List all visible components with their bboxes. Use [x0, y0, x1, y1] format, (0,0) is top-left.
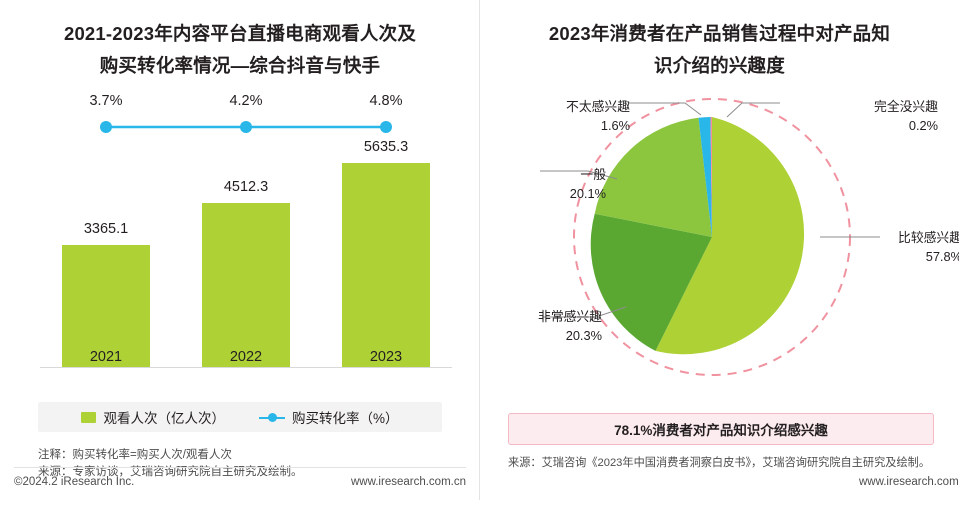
legend-line-icon: [259, 412, 285, 423]
callout-value-no-interest: 0.2%: [778, 116, 938, 135]
line-series: 3.7% 4.2% 4.8%: [0, 95, 480, 395]
left-footer-copyright: ©2024.2 iResearch Inc.: [14, 476, 134, 488]
left-footer: ©2024.2 iResearch Inc. www.iresearch.com…: [14, 467, 466, 500]
callout-very-interested: 非常感兴趣 20.3%: [482, 307, 602, 345]
line-value-2023: 4.8%: [326, 93, 446, 109]
line-value-2022: 4.2%: [186, 93, 306, 109]
line-point-2023: [380, 121, 392, 133]
callout-label-no-interest: 完全没兴趣: [874, 99, 938, 114]
bar-chart: 3365.1 2021 4512.3 2022 5635.3 2023: [0, 95, 480, 395]
callout-value-not-interested: 1.6%: [480, 116, 630, 135]
callout-label-very-interested: 非常感兴趣: [538, 309, 602, 324]
left-title-line2: 购买转化率情况—综合抖音与快手: [0, 50, 480, 82]
callout-not-interested: 不太感兴趣 1.6%: [480, 97, 630, 135]
left-note-line1: 注释：购买转化率=购买人次/观看人次: [38, 447, 458, 464]
pie-chart: 不太感兴趣 1.6% 完全没兴趣 0.2% 一般 20.1% 非常感兴趣 20.…: [480, 85, 959, 405]
legend-label-conversion: 购买转化率（%）: [292, 407, 399, 427]
right-source: 来源：艾瑞咨询《2023年中国消费者洞察白皮书》，艾瑞咨询研究院自主研究及绘制。: [508, 455, 948, 471]
legend-label-views: 观看人次（亿人次）: [103, 407, 225, 427]
right-chart-title: 2023年消费者在产品销售过程中对产品知 识介绍的兴趣度: [480, 18, 959, 82]
legend-item-conversion[interactable]: 购买转化率（%）: [259, 407, 399, 427]
callout-quite-interested: 比较感兴趣 57.8%: [852, 228, 959, 266]
callout-label-neutral: 一般: [580, 167, 606, 182]
left-chart-title: 2021-2023年内容平台直播电商观看人次及 购买转化率情况—综合抖音与快手: [0, 18, 480, 82]
line-value-2021: 3.7%: [46, 93, 166, 109]
callout-label-quite-interested: 比较感兴趣: [898, 230, 959, 245]
callout-neutral: 一般 20.1%: [496, 165, 606, 203]
callout-value-quite-interested: 57.8%: [852, 247, 959, 266]
right-footer-url[interactable]: www.iresearch.com.cn: [859, 476, 959, 488]
line-point-2021: [100, 121, 112, 133]
leader-line-not-interested: [628, 103, 701, 115]
right-panel: 2023年消费者在产品销售过程中对产品知 识介绍的兴趣度: [480, 0, 959, 500]
callout-value-neutral: 20.1%: [496, 184, 606, 203]
right-title-line2: 识介绍的兴趣度: [480, 50, 959, 82]
left-title-line1: 2021-2023年内容平台直播电商观看人次及: [64, 23, 416, 44]
page-root: 2021-2023年内容平台直播电商观看人次及 购买转化率情况—综合抖音与快手 …: [0, 0, 959, 500]
legend-item-views[interactable]: 观看人次（亿人次）: [81, 407, 225, 427]
left-footer-url[interactable]: www.iresearch.com.cn: [351, 476, 466, 488]
right-title-line1: 2023年消费者在产品销售过程中对产品知: [549, 23, 890, 44]
callout-label-not-interested: 不太感兴趣: [566, 99, 630, 114]
legend-swatch-icon: [81, 412, 96, 423]
conversion-line-svg: [0, 95, 480, 395]
callout-value-very-interested: 20.3%: [482, 326, 602, 345]
left-panel: 2021-2023年内容平台直播电商观看人次及 购买转化率情况—综合抖音与快手 …: [0, 0, 480, 500]
left-legend: 观看人次（亿人次） 购买转化率（%）: [38, 402, 442, 432]
summary-text: 78.1%消费者对产品知识介绍感兴趣: [614, 419, 828, 439]
right-source-text: 来源：艾瑞咨询《2023年中国消费者洞察白皮书》，艾瑞咨询研究院自主研究及绘制。: [508, 457, 930, 469]
callout-no-interest: 完全没兴趣 0.2%: [778, 97, 938, 135]
line-point-2022: [240, 121, 252, 133]
summary-badge: 78.1%消费者对产品知识介绍感兴趣: [508, 413, 934, 445]
